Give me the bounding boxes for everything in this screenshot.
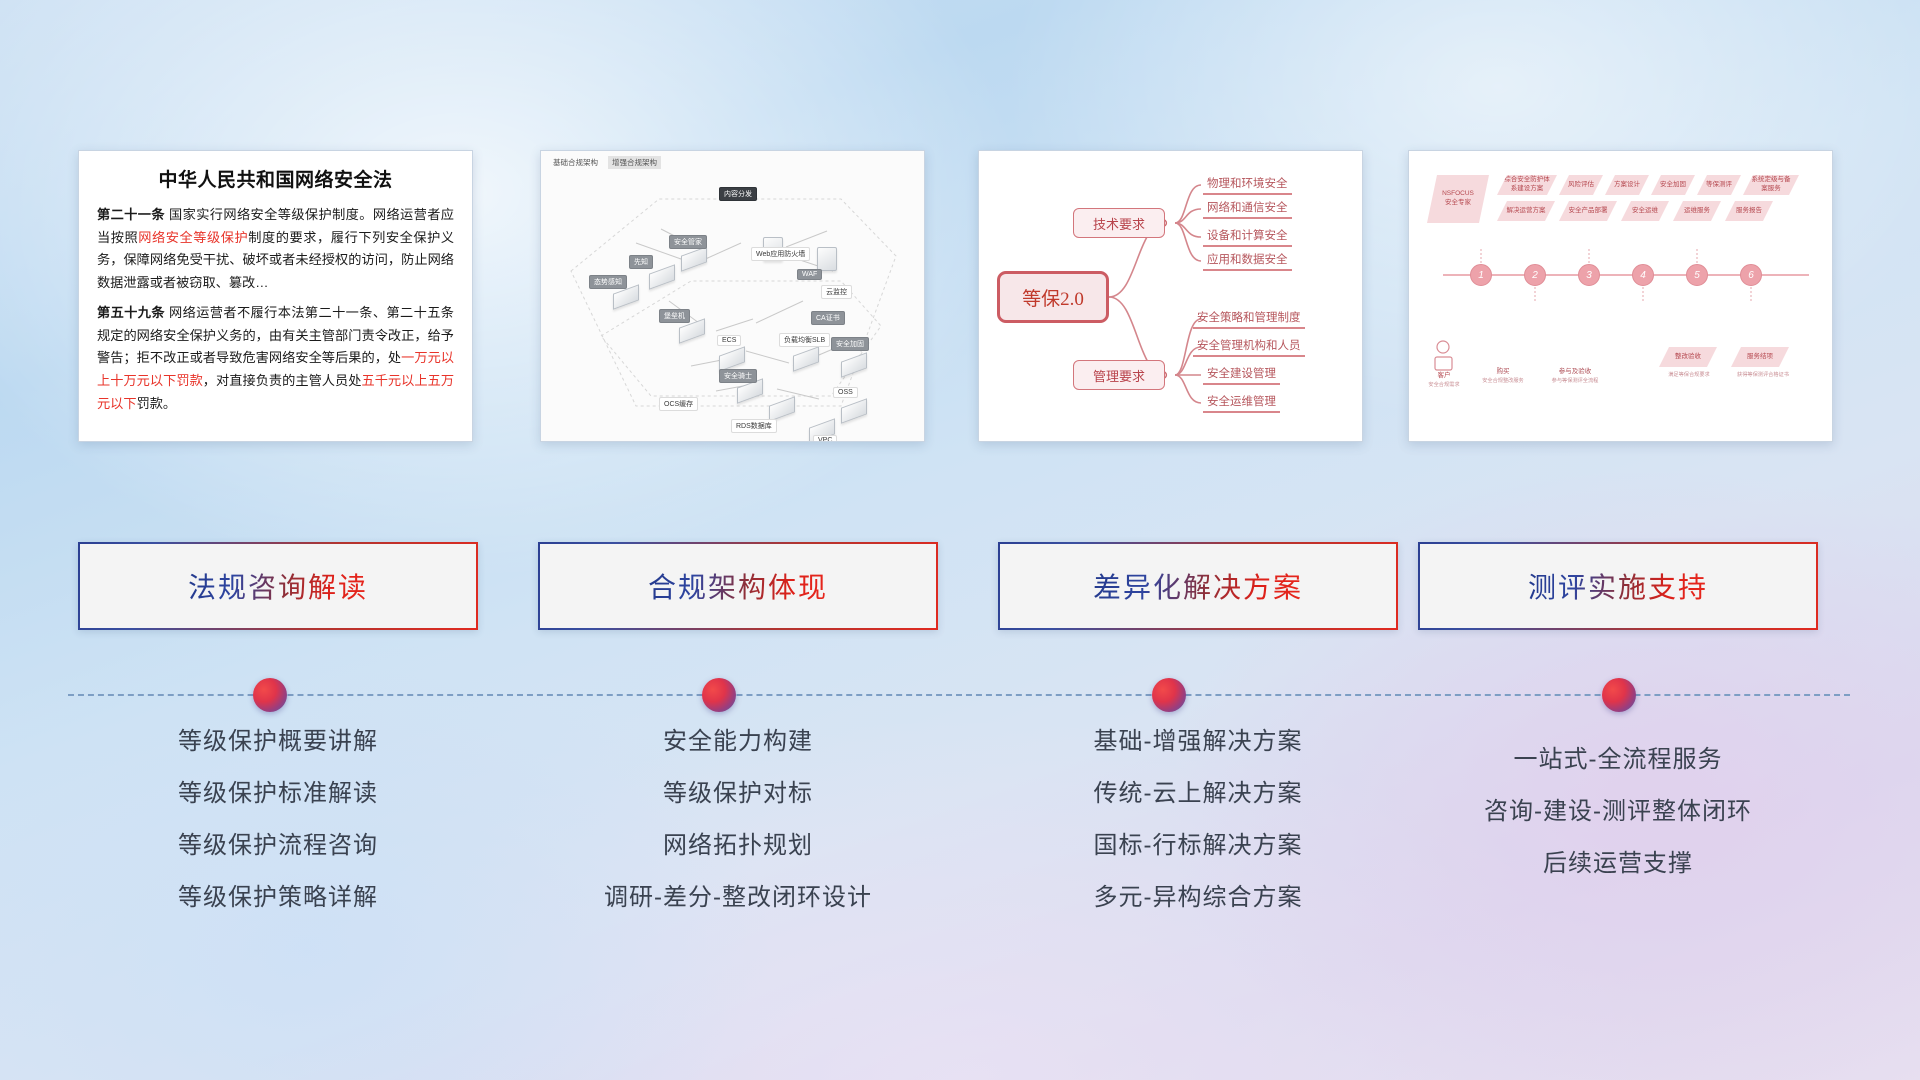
- timeline-step-4[interactable]: 4: [1632, 264, 1654, 286]
- timeline-marker-3[interactable]: [1152, 678, 1186, 712]
- article-21-highlight: 网络安全等级保护: [138, 230, 248, 245]
- node-label-xianzhi: 先知: [629, 255, 653, 269]
- list-item: 后续运营支撑: [1418, 852, 1818, 876]
- node-label-waf: WAF: [797, 269, 822, 280]
- timeline-canvas: NSFOCUS 安全专家 综合安全防护体系建设方案 风险评估 方案设计 安全加固…: [1409, 151, 1832, 441]
- heading-box-assessment-support[interactable]: 测评实施支持: [1418, 542, 1818, 630]
- list-item: 一站式-全流程服务: [1418, 748, 1818, 772]
- timeline-step-1[interactable]: 1: [1470, 264, 1492, 286]
- phase-timeline: [0, 660, 1920, 730]
- list-item: 咨询-建设-测评整体闭环: [1418, 800, 1818, 824]
- card-service-timeline[interactable]: NSFOCUS 安全专家 综合安全防护体系建设方案 风险评估 方案设计 安全加固…: [1408, 150, 1833, 442]
- detail-columns-row: 等级保护概要讲解 等级保护标准解读 等级保护流程咨询 等级保护策略详解 安全能力…: [0, 730, 1920, 930]
- list-item: 基础-增强解决方案: [998, 730, 1398, 754]
- heading-label-3: 差异化解决方案: [1093, 566, 1303, 606]
- timeline-step-5[interactable]: 5: [1686, 264, 1708, 286]
- timeline-marker-2[interactable]: [702, 678, 736, 712]
- timeline-step-2[interactable]: 2: [1524, 264, 1546, 286]
- node-label-taishiganzhi: 态势感知: [589, 275, 627, 289]
- heading-box-differentiated-solution[interactable]: 差异化解决方案: [998, 542, 1398, 630]
- expert-badge-sub: 安全专家: [1445, 199, 1471, 208]
- article-59-text-c: 罚款。: [137, 396, 177, 411]
- action-sub-0: 安全合规整改服务: [1469, 377, 1537, 384]
- node-label-ocs: OCS缓存: [659, 397, 698, 411]
- node-label-cazhengshu: CA证书: [811, 311, 845, 325]
- law-title: 中华人民共和国网络安全法: [97, 165, 454, 192]
- list-item: 国标-行标解决方案: [998, 834, 1398, 858]
- node-label-anquanguanjia: 安全管家: [669, 235, 707, 249]
- list-item: 等级保护概要讲解: [78, 730, 478, 754]
- heading-box-compliance-architecture[interactable]: 合规架构体现: [538, 542, 938, 630]
- law-article-21: 第二十一条 国家实行网络安全等级保护制度。网络运营者应当按照网络安全等级保护制度…: [97, 204, 454, 295]
- heading-label-4: 测评实施支持: [1528, 566, 1708, 606]
- mindmap-leaf-policy-system: 安全策略和管理制度: [1193, 309, 1305, 329]
- node-icon-cazhengshu: [817, 247, 837, 271]
- node-label-yunjiankong: 云监控: [821, 285, 852, 299]
- top-chevron-0: 综合安全防护体系建设方案: [1497, 175, 1557, 195]
- preview-cards-row: 中华人民共和国网络安全法 第二十一条 国家实行网络安全等级保护制度。网络运营者应…: [0, 0, 1920, 430]
- heading-label-2: 合规架构体现: [648, 566, 828, 606]
- detail-column-2: 安全能力构建 等级保护对标 网络拓扑规划 调研-差分-整改闭环设计: [538, 730, 938, 938]
- mindmap-leaf-ops-mgmt: 安全运维管理: [1203, 393, 1280, 413]
- article-59-label: 第五十九条: [97, 305, 165, 320]
- list-item: 等级保护策略详解: [78, 886, 478, 910]
- timeline-marker-4[interactable]: [1602, 678, 1636, 712]
- list-item: 多元-异构综合方案: [998, 886, 1398, 910]
- mindmap-root-node[interactable]: 等保2.0: [997, 271, 1109, 323]
- expert-badge-title: NSFOCUS: [1442, 190, 1474, 199]
- node-label-webwaf: Web应用防火墙: [751, 247, 810, 261]
- list-item: 等级保护标准解读: [78, 782, 478, 806]
- timeline-marker-1[interactable]: [253, 678, 287, 712]
- list-item: 传统-云上解决方案: [998, 782, 1398, 806]
- row2-chevron-0: 解决运营方案: [1497, 201, 1555, 221]
- architecture-canvas: 基础合规架构 增强合规架构: [541, 151, 924, 441]
- mindmap-leaf-device-compute: 设备和计算安全: [1203, 227, 1292, 247]
- node-label-ecs: ECS: [717, 335, 741, 346]
- action-title-1: 参与及验收: [1545, 365, 1605, 375]
- mindmap-leaf-build-mgmt: 安全建设管理: [1203, 365, 1280, 385]
- node-label-anquanqishi: 安全骑士: [719, 369, 757, 383]
- node-label-slb: 负载均衡SLB: [779, 333, 830, 347]
- node-label-baoleiji: 堡垒机: [659, 309, 690, 323]
- mindmap-leaf-network-comm: 网络和通信安全: [1203, 199, 1292, 219]
- law-article-59: 第五十九条 网络运营者不履行本法第二十一条、第二十五条规定的网络安全保护义务的，…: [97, 302, 454, 416]
- mindmap-branch-technical[interactable]: 技术要求: [1073, 208, 1165, 238]
- action-sub-3: 获得等保测评合格证书: [1719, 371, 1807, 378]
- article-59-text-b: ，对直接负责的主管人员处: [203, 373, 362, 388]
- mindmap-canvas: 等保2.0 技术要求 管理要求 物理和环境安全 网络和通信安全 设备和计算安全 …: [979, 151, 1362, 441]
- card-law-document[interactable]: 中华人民共和国网络安全法 第二十一条 国家实行网络安全等级保护制度。网络运营者应…: [78, 150, 473, 442]
- article-21-label: 第二十一条: [97, 207, 165, 222]
- node-label-oss: OSS: [833, 387, 858, 398]
- list-item: 网络拓扑规划: [538, 834, 938, 858]
- mindmap-leaf-org-personnel: 安全管理机构和人员: [1193, 337, 1305, 357]
- customer-title: 客户: [1421, 369, 1467, 379]
- timeline-step-6[interactable]: 6: [1740, 264, 1762, 286]
- node-label-vpc: VPC: [813, 435, 837, 442]
- timeline-dashed-line: [68, 694, 1850, 696]
- node-label-anquanjiagu: 安全加固: [831, 337, 869, 351]
- mindmap-leaf-physical-env: 物理和环境安全: [1203, 175, 1292, 195]
- node-label-rds: RDS数据库: [731, 419, 777, 433]
- node-label-neirongfenfa: 内容分发: [719, 187, 757, 201]
- detail-column-1: 等级保护概要讲解 等级保护标准解读 等级保护流程咨询 等级保护策略详解: [78, 730, 478, 938]
- action-title-2: 整改验收: [1659, 347, 1717, 367]
- card-architecture-diagram[interactable]: 基础合规架构 增强合规架构: [540, 150, 925, 442]
- action-title-0: 购买: [1483, 365, 1523, 375]
- headings-row: 法规咨询解读 合规架构体现 差异化解决方案 测评实施支持: [0, 542, 1920, 642]
- detail-column-4: 一站式-全流程服务 咨询-建设-测评整体闭环 后续运营支撑: [1418, 730, 1818, 904]
- list-item: 等级保护对标: [538, 782, 938, 806]
- heading-label-1: 法规咨询解读: [188, 566, 368, 606]
- mindmap-leaf-app-data: 应用和数据安全: [1203, 251, 1292, 271]
- action-title-3: 服务结项: [1731, 347, 1789, 367]
- detail-column-3: 基础-增强解决方案 传统-云上解决方案 国标-行标解决方案 多元-异构综合方案: [998, 730, 1398, 938]
- card-mindmap[interactable]: 等保2.0 技术要求 管理要求 物理和环境安全 网络和通信安全 设备和计算安全 …: [978, 150, 1363, 442]
- expert-badge: NSFOCUS 安全专家: [1427, 175, 1489, 223]
- action-sub-1: 参与等保测评全流程: [1535, 377, 1615, 384]
- timeline-step-3[interactable]: 3: [1578, 264, 1600, 286]
- heading-box-regulation-consulting[interactable]: 法规咨询解读: [78, 542, 478, 630]
- customer-sub: 安全合规需求: [1415, 381, 1473, 388]
- list-item: 等级保护流程咨询: [78, 834, 478, 858]
- list-item: 安全能力构建: [538, 730, 938, 754]
- mindmap-branch-management[interactable]: 管理要求: [1073, 360, 1165, 390]
- list-item: 调研-差分-整改闭环设计: [538, 886, 938, 910]
- law-body: 中华人民共和国网络安全法 第二十一条 国家实行网络安全等级保护制度。网络运营者应…: [79, 151, 472, 415]
- row2-chevron-1: 安全产品部署: [1559, 201, 1617, 221]
